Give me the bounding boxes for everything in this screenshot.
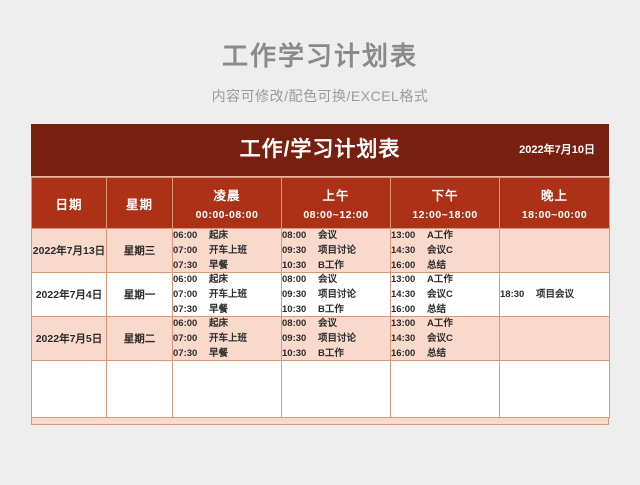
task-entry: 16:00总结 <box>391 347 499 360</box>
task-time: 10:30 <box>282 259 318 272</box>
table-head: 日期星期凌晨00:00-08:00上午08:00~12:00下午12:00~18… <box>32 178 610 229</box>
header-row: 日期星期凌晨00:00-08:00上午08:00~12:00下午12:00~18… <box>32 178 610 229</box>
task-entry: 13:00A工作 <box>391 273 499 286</box>
column-header-stack: 下午12:00~18:00 <box>391 185 499 221</box>
table-banner: 工作/学习计划表 2022年7月10日 <box>31 124 609 177</box>
task-time: 09:30 <box>282 288 318 301</box>
table-bottom-strip <box>31 418 609 425</box>
task-name: 会议 <box>318 317 337 330</box>
task-entry: 10:30B工作 <box>282 347 390 360</box>
column-header-label: 日期 <box>55 194 82 213</box>
cell-morning[interactable]: 08:00会议09:30项目讨论10:30B工作 <box>282 229 391 273</box>
task-time: 07:30 <box>173 347 209 360</box>
task-entry: 08:00会议 <box>282 229 390 242</box>
task-list: 13:00A工作14:30会议C16:00总结 <box>391 273 499 316</box>
task-name: 总结 <box>427 303 446 316</box>
task-name: 开车上班 <box>209 332 247 345</box>
task-entry: 14:30会议C <box>391 244 499 257</box>
table-row <box>32 361 610 418</box>
task-name: 会议C <box>427 288 453 301</box>
column-header-3: 上午08:00~12:00 <box>282 178 391 229</box>
task-name: 项目讨论 <box>318 332 356 345</box>
table-row: 2022年7月5日星期二06:00起床07:00开车上班07:30早餐08:00… <box>32 317 610 361</box>
task-time: 10:30 <box>282 347 318 360</box>
task-entry: 18:30项目会议 <box>500 288 609 301</box>
task-time: 16:00 <box>391 259 427 272</box>
column-header-0: 日期 <box>32 178 107 229</box>
column-header-2: 凌晨00:00-08:00 <box>173 178 282 229</box>
task-entry: 07:30早餐 <box>173 259 281 272</box>
task-name: 会议 <box>318 229 337 242</box>
task-list: 06:00起床07:00开车上班07:30早餐 <box>173 229 281 272</box>
task-time: 09:30 <box>282 332 318 345</box>
cell-evening[interactable] <box>500 317 610 361</box>
task-name: 会议C <box>427 244 453 257</box>
task-list: 06:00起床07:00开车上班07:30早餐 <box>173 317 281 360</box>
column-header-range: 18:00~00:00 <box>522 209 587 221</box>
cell-date[interactable]: 2022年7月4日 <box>32 273 107 317</box>
task-entry: 08:00会议 <box>282 273 390 286</box>
task-time: 06:00 <box>173 273 209 286</box>
task-time: 18:30 <box>500 288 536 301</box>
cell-afternoon[interactable]: 13:00A工作14:30会议C16:00总结 <box>391 229 500 273</box>
plan-sheet-page: 工作学习计划表 内容可修改/配色可换/EXCEL格式 工作/学习计划表 2022… <box>0 0 640 485</box>
cell-dawn[interactable]: 06:00起床07:00开车上班07:30早餐 <box>173 317 282 361</box>
task-name: A工作 <box>427 229 453 242</box>
cell-afternoon[interactable]: 13:00A工作14:30会议C16:00总结 <box>391 317 500 361</box>
task-time: 06:00 <box>173 229 209 242</box>
task-name: 项目会议 <box>536 288 574 301</box>
cell-afternoon[interactable]: 13:00A工作14:30会议C16:00总结 <box>391 273 500 317</box>
task-name: 项目讨论 <box>318 288 356 301</box>
task-name: 总结 <box>427 259 446 272</box>
table-body: 2022年7月13日星期三06:00起床07:00开车上班07:30早餐08:0… <box>32 229 610 418</box>
task-time: 16:00 <box>391 347 427 360</box>
cell-dawn[interactable]: 06:00起床07:00开车上班07:30早餐 <box>173 229 282 273</box>
task-entry: 16:00总结 <box>391 303 499 316</box>
task-entry: 06:00起床 <box>173 273 281 286</box>
task-name: 早餐 <box>209 259 228 272</box>
column-header-1: 星期 <box>107 178 173 229</box>
plan-table-container: 工作/学习计划表 2022年7月10日 日期星期凌晨00:00-08:00上午0… <box>31 124 609 425</box>
task-name: 早餐 <box>209 303 228 316</box>
cell-weekday[interactable]: 星期二 <box>107 317 173 361</box>
task-name: 开车上班 <box>209 288 247 301</box>
task-entry: 06:00起床 <box>173 317 281 330</box>
task-time: 10:30 <box>282 303 318 316</box>
task-entry: 09:30项目讨论 <box>282 332 390 345</box>
task-name: B工作 <box>318 347 344 360</box>
cell-evening[interactable] <box>500 361 610 418</box>
page-title: 工作学习计划表 <box>0 36 640 73</box>
cell-weekday[interactable] <box>107 361 173 418</box>
cell-date[interactable]: 2022年7月13日 <box>32 229 107 273</box>
task-time: 13:00 <box>391 317 427 330</box>
table-row: 2022年7月13日星期三06:00起床07:00开车上班07:30早餐08:0… <box>32 229 610 273</box>
column-header-stack: 晚上18:00~00:00 <box>500 185 609 221</box>
column-header-range: 08:00~12:00 <box>303 209 368 221</box>
task-time: 07:30 <box>173 303 209 316</box>
task-entry: 07:00开车上班 <box>173 288 281 301</box>
task-entry: 08:00会议 <box>282 317 390 330</box>
task-entry: 10:30B工作 <box>282 259 390 272</box>
task-name: A工作 <box>427 273 453 286</box>
task-name: B工作 <box>318 303 344 316</box>
task-entry: 09:30项目讨论 <box>282 244 390 257</box>
task-time: 13:00 <box>391 273 427 286</box>
cell-dawn[interactable]: 06:00起床07:00开车上班07:30早餐 <box>173 273 282 317</box>
column-header-stack: 星期 <box>107 194 172 213</box>
task-entry: 09:30项目讨论 <box>282 288 390 301</box>
task-name: B工作 <box>318 259 344 272</box>
column-header-4: 下午12:00~18:00 <box>391 178 500 229</box>
task-name: 起床 <box>209 317 228 330</box>
cell-evening[interactable]: 18:30项目会议 <box>500 273 610 317</box>
task-entry: 13:00A工作 <box>391 317 499 330</box>
cell-date[interactable]: 2022年7月5日 <box>32 317 107 361</box>
task-entry: 06:00起床 <box>173 229 281 242</box>
task-time: 13:00 <box>391 229 427 242</box>
column-header-label: 凌晨 <box>213 185 240 204</box>
banner-date: 2022年7月10日 <box>519 124 595 176</box>
task-list: 06:00起床07:00开车上班07:30早餐 <box>173 273 281 316</box>
cell-morning[interactable]: 08:00会议09:30项目讨论10:30B工作 <box>282 273 391 317</box>
task-list: 18:30项目会议 <box>500 288 609 301</box>
column-header-stack: 日期 <box>32 194 106 213</box>
task-entry: 07:30早餐 <box>173 303 281 316</box>
cell-afternoon[interactable] <box>391 361 500 418</box>
task-time: 07:00 <box>173 244 209 257</box>
task-entry: 14:30会议C <box>391 288 499 301</box>
cell-weekday[interactable]: 星期三 <box>107 229 173 273</box>
task-name: 会议 <box>318 273 337 286</box>
task-time: 08:00 <box>282 317 318 330</box>
task-entry: 07:30早餐 <box>173 347 281 360</box>
task-name: 项目讨论 <box>318 244 356 257</box>
cell-date[interactable] <box>32 361 107 418</box>
task-list: 13:00A工作14:30会议C16:00总结 <box>391 317 499 360</box>
task-name: 开车上班 <box>209 244 247 257</box>
task-time: 14:30 <box>391 244 427 257</box>
task-list: 13:00A工作14:30会议C16:00总结 <box>391 229 499 272</box>
task-time: 09:30 <box>282 244 318 257</box>
cell-dawn[interactable] <box>173 361 282 418</box>
task-entry: 14:30会议C <box>391 332 499 345</box>
task-entry: 07:00开车上班 <box>173 244 281 257</box>
cell-morning[interactable] <box>282 361 391 418</box>
column-header-stack: 上午08:00~12:00 <box>282 185 390 221</box>
task-name: 总结 <box>427 347 446 360</box>
task-time: 16:00 <box>391 303 427 316</box>
task-list: 08:00会议09:30项目讨论10:30B工作 <box>282 229 390 272</box>
column-header-5: 晚上18:00~00:00 <box>500 178 610 229</box>
task-time: 07:00 <box>173 332 209 345</box>
task-time: 14:30 <box>391 332 427 345</box>
column-header-label: 晚上 <box>541 185 568 204</box>
table-row: 2022年7月4日星期一06:00起床07:00开车上班07:30早餐08:00… <box>32 273 610 317</box>
task-entry: 13:00A工作 <box>391 229 499 242</box>
task-time: 08:00 <box>282 273 318 286</box>
task-name: A工作 <box>427 317 453 330</box>
task-time: 14:30 <box>391 288 427 301</box>
task-name: 起床 <box>209 229 228 242</box>
column-header-label: 上午 <box>322 185 349 204</box>
column-header-stack: 凌晨00:00-08:00 <box>173 185 281 221</box>
task-time: 07:00 <box>173 288 209 301</box>
task-list: 08:00会议09:30项目讨论10:30B工作 <box>282 317 390 360</box>
task-name: 起床 <box>209 273 228 286</box>
task-entry: 07:00开车上班 <box>173 332 281 345</box>
column-header-label: 星期 <box>126 194 153 213</box>
cell-evening[interactable] <box>500 229 610 273</box>
page-subtitle: 内容可修改/配色可换/EXCEL格式 <box>0 86 640 106</box>
task-name: 会议C <box>427 332 453 345</box>
column-header-range: 00:00-08:00 <box>196 209 259 221</box>
task-time: 08:00 <box>282 229 318 242</box>
task-entry: 16:00总结 <box>391 259 499 272</box>
task-name: 早餐 <box>209 347 228 360</box>
plan-table: 日期星期凌晨00:00-08:00上午08:00~12:00下午12:00~18… <box>31 177 610 418</box>
task-entry: 10:30B工作 <box>282 303 390 316</box>
column-header-range: 12:00~18:00 <box>412 209 477 221</box>
task-time: 07:30 <box>173 259 209 272</box>
cell-weekday[interactable]: 星期一 <box>107 273 173 317</box>
cell-morning[interactable]: 08:00会议09:30项目讨论10:30B工作 <box>282 317 391 361</box>
task-time: 06:00 <box>173 317 209 330</box>
column-header-label: 下午 <box>431 185 458 204</box>
task-list: 08:00会议09:30项目讨论10:30B工作 <box>282 273 390 316</box>
